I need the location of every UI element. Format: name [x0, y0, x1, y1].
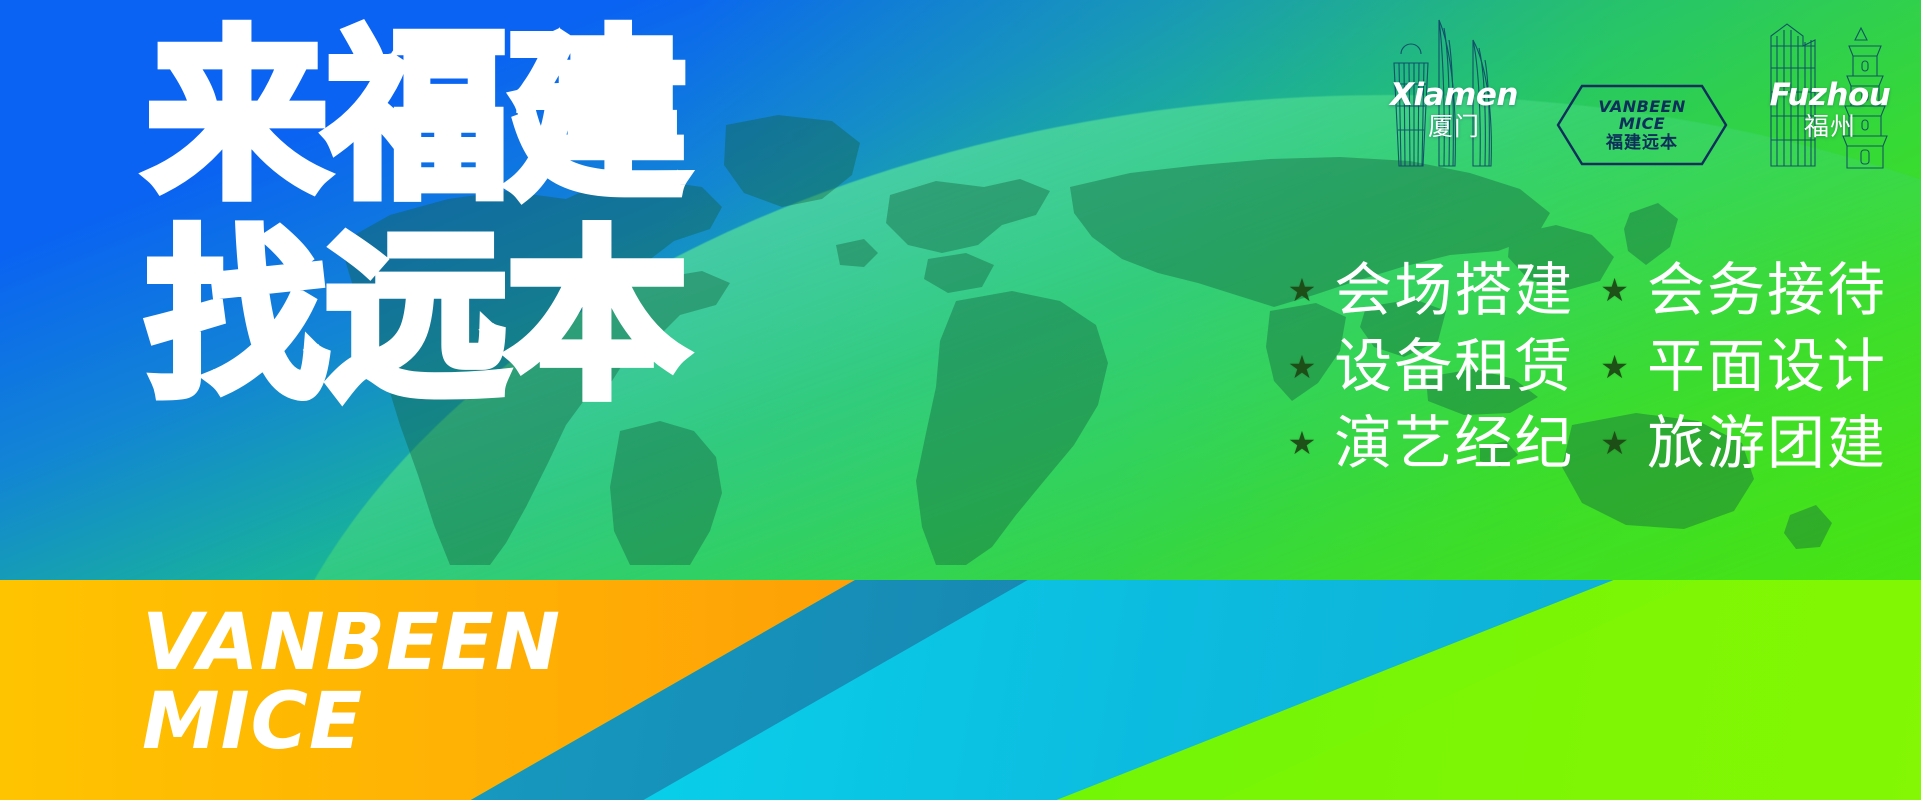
- brand-line-1: VANBEEN: [142, 606, 561, 681]
- city-name-en: Xiamen: [1381, 80, 1527, 111]
- city-badge-strip: Xiamen 厦门 Fuzhou 福州 VANBEEN MICE 福建远本: [1387, 6, 1897, 181]
- headline-line-1: 来福建: [146, 28, 686, 206]
- hex-logo-line-1: VANBEEN: [1598, 99, 1685, 115]
- star-bullet-icon: ★: [1600, 351, 1629, 383]
- service-item: ★ 平面设计: [1600, 332, 1887, 400]
- vanbeen-hex-logo: VANBEEN MICE 福建远本: [1556, 84, 1728, 166]
- bottom-color-band: VANBEEN MICE: [0, 580, 1921, 800]
- city-name-cn: 福州: [1755, 114, 1905, 139]
- city-name-en: Fuzhou: [1755, 80, 1905, 111]
- brand-wordmark: VANBEEN MICE: [142, 606, 561, 760]
- service-label: 设备租赁: [1334, 332, 1574, 400]
- hex-logo-line-2: MICE: [1619, 116, 1665, 132]
- promo-banner: 来福建 找远本: [0, 0, 1921, 800]
- service-item: ★ 演艺经纪: [1288, 409, 1575, 477]
- city-label-xiamen: Xiamen 厦门: [1381, 80, 1527, 139]
- city-label-fuzhou: Fuzhou 福州: [1755, 80, 1905, 139]
- service-item: ★ 设备租赁: [1288, 332, 1575, 400]
- star-bullet-icon: ★: [1288, 427, 1317, 459]
- service-label: 演艺经纪: [1334, 409, 1574, 477]
- service-list: ★ 会场搭建 ★ 会务接待 ★ 设备租赁 ★ 平面设计 ★ 演艺经纪 ★ 旅游团…: [1288, 256, 1887, 477]
- service-label: 会场搭建: [1334, 256, 1574, 324]
- service-item: ★ 会务接待: [1600, 256, 1887, 324]
- star-bullet-icon: ★: [1288, 351, 1317, 383]
- brand-line-2: MICE: [142, 685, 561, 760]
- city-name-cn: 厦门: [1381, 114, 1527, 139]
- service-label: 会务接待: [1647, 256, 1887, 324]
- headline: 来福建 找远本: [146, 28, 686, 407]
- star-bullet-icon: ★: [1600, 427, 1629, 459]
- service-item: ★ 会场搭建: [1288, 256, 1575, 324]
- star-bullet-icon: ★: [1288, 274, 1317, 306]
- hex-logo-line-3: 福建远本: [1606, 135, 1678, 152]
- service-label: 旅游团建: [1647, 409, 1887, 477]
- headline-line-2: 找远本: [146, 228, 686, 406]
- service-item: ★ 旅游团建: [1600, 409, 1887, 477]
- service-label: 平面设计: [1647, 332, 1887, 400]
- star-bullet-icon: ★: [1600, 274, 1629, 306]
